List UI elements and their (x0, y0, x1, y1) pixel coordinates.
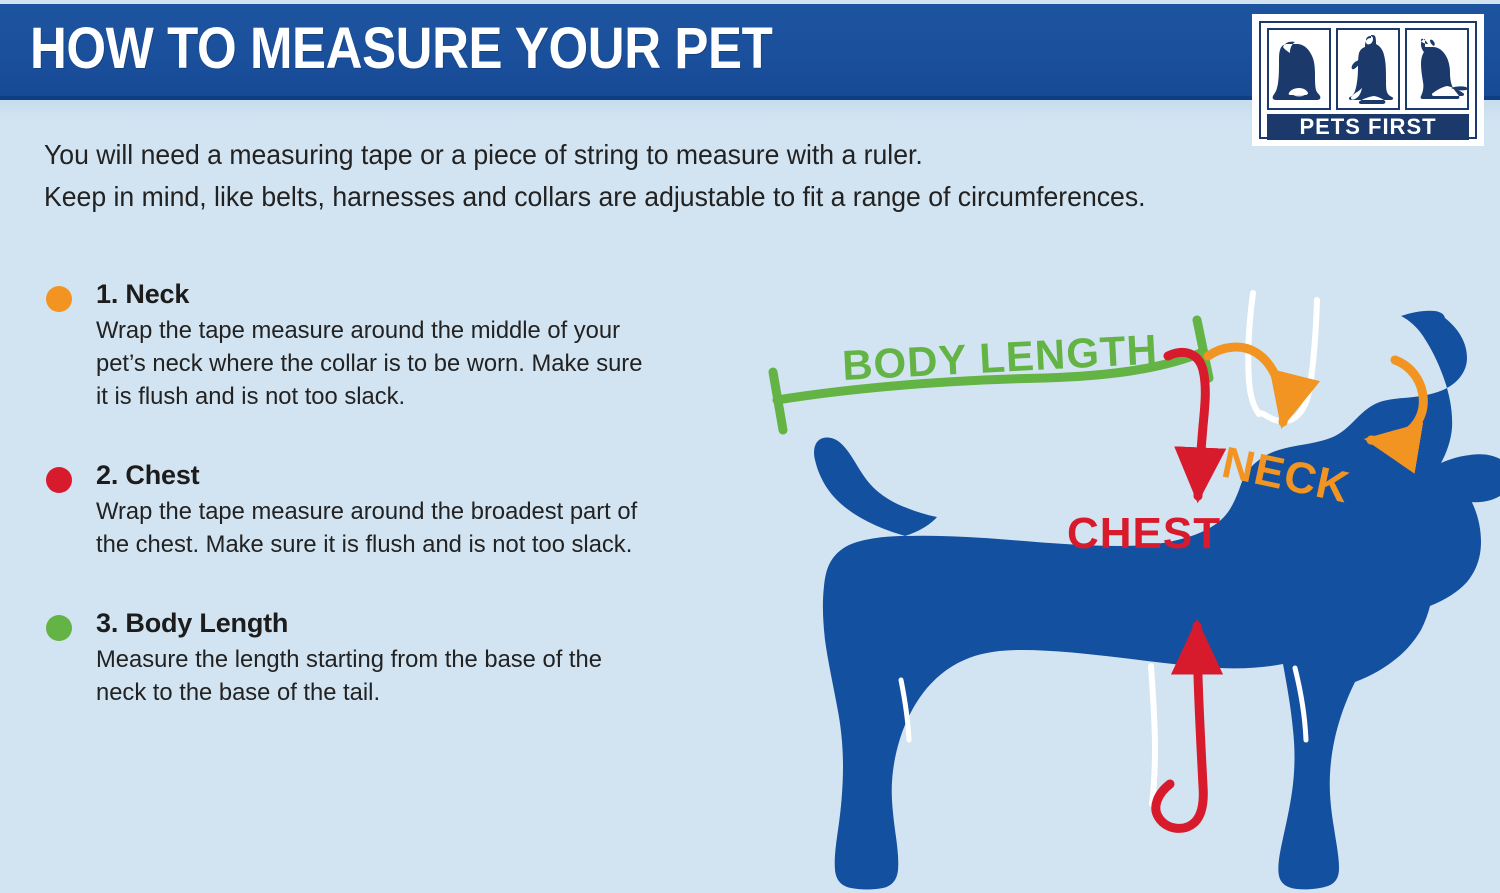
dog-measurement-diagram: BODY LENGTH NECK CHEST (655, 248, 1500, 893)
bullet-green-icon (46, 615, 72, 641)
dog-sitting-icon (1405, 28, 1469, 110)
dog-lying-icon (1267, 28, 1331, 110)
page-title: HOW TO MEASURE YOUR PET (30, 18, 772, 80)
pets-first-logo: PETS FIRST (1252, 14, 1484, 146)
step-body-neck: Wrap the tape measure around the middle … (96, 314, 657, 413)
body-length-label: BODY LENGTH (841, 326, 1159, 389)
bullet-red-icon (46, 467, 72, 493)
step-item-body-length: 3. Body Length Measure the length starti… (44, 605, 674, 709)
step-item-neck: 1. Neck Wrap the tape measure around the… (44, 276, 674, 413)
dog-detail-lines (901, 668, 1306, 740)
dog-foreleg-line (1151, 666, 1155, 804)
step-title-neck: 1. Neck (96, 276, 674, 312)
measurement-steps-list: 1. Neck Wrap the tape measure around the… (44, 276, 674, 753)
logo-dog-icons (1267, 28, 1469, 110)
intro-line-1: You will need a measuring tape or a piec… (44, 134, 1270, 176)
bullet-orange-icon (46, 286, 72, 312)
step-body-chest: Wrap the tape measure around the broades… (96, 495, 657, 561)
logo-frame: PETS FIRST (1259, 21, 1477, 139)
intro-text: You will need a measuring tape or a piec… (44, 134, 1334, 218)
chest-label: CHEST (1067, 509, 1221, 558)
step-item-chest: 2. Chest Wrap the tape measure around th… (44, 457, 674, 561)
step-title-chest: 2. Chest (96, 457, 674, 493)
step-title-body-length: 3. Body Length (96, 605, 674, 641)
dog-begging-icon (1336, 28, 1400, 110)
infographic-page: HOW TO MEASURE YOUR PET (0, 0, 1500, 893)
intro-line-2: Keep in mind, like belts, harnesses and … (44, 176, 1270, 218)
step-body-body-length: Measure the length starting from the bas… (96, 643, 657, 709)
